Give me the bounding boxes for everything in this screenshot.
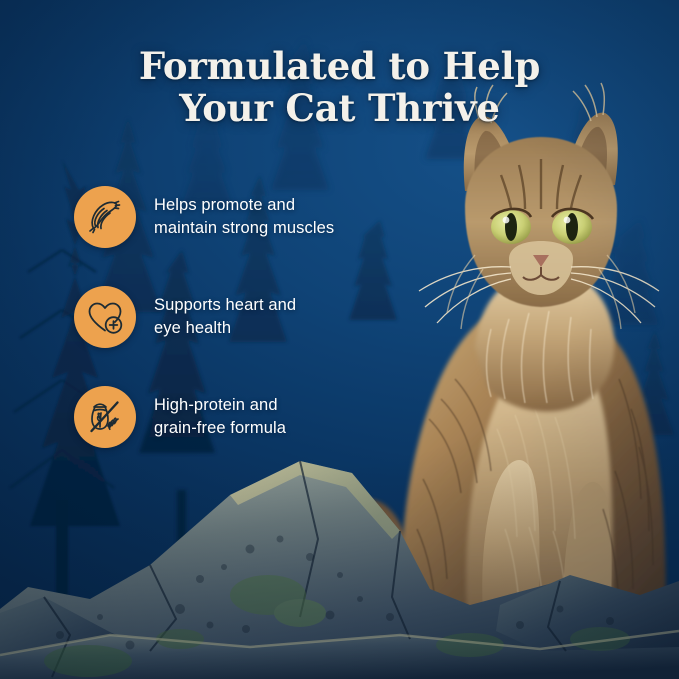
benefit-text-muscle: Helps promote and maintain strong muscle…: [154, 194, 334, 241]
benefit-text-heart: Supports heart and eye health: [154, 294, 296, 341]
headline-line-2: Your Cat Thrive: [60, 88, 619, 130]
page-title: Formulated to Help Your Cat Thrive: [0, 46, 679, 130]
product-banner: Formulated to Help Your Cat Thrive He: [0, 0, 679, 679]
benefit-list: Helps promote and maintain strong muscle…: [74, 186, 404, 448]
benefit-item-muscle: Helps promote and maintain strong muscle…: [74, 186, 404, 248]
benefit-item-grain: High-protein and grain-free formula: [74, 386, 404, 448]
benefit-text-grain: High-protein and grain-free formula: [154, 394, 286, 441]
heart-plus-icon: [74, 286, 136, 348]
benefit-item-heart: Supports heart and eye health: [74, 286, 404, 348]
no-grain-sack-icon: [74, 386, 136, 448]
headline-line-1: Formulated to Help: [139, 44, 540, 88]
muscle-fiber-icon: [74, 186, 136, 248]
